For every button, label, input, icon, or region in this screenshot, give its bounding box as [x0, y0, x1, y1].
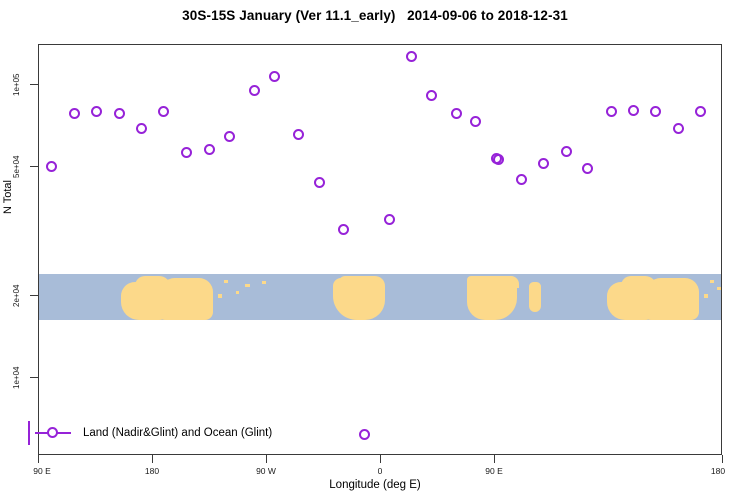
y-tick-label-1e05: 1e+05 [12, 68, 21, 102]
data-point[interactable] [673, 123, 684, 134]
x-tick-label-90w: 90 W [256, 466, 276, 476]
legend-accent-bar [28, 421, 30, 445]
x-tick-mark-0 [380, 455, 381, 463]
legend-marker-sample [33, 426, 73, 440]
x-tick-label-180-west: 180 [145, 466, 159, 476]
landmass-island-c [236, 291, 239, 294]
landmass-island-e [218, 294, 222, 298]
data-point[interactable] [293, 129, 304, 140]
y-tick-mark-1e04 [30, 377, 38, 378]
y-tick-mark-1e05 [30, 84, 38, 85]
data-point[interactable] [695, 106, 706, 117]
landmass-island-e-wrap [704, 294, 708, 298]
landmass-island-f-wrap [717, 287, 721, 290]
legend-circle-icon [47, 427, 58, 438]
data-point[interactable] [426, 90, 437, 101]
y-tick-label-1e04: 1e+04 [12, 361, 21, 395]
legend: Land (Nadir&Glint) and Ocean (Glint) [28, 420, 272, 446]
data-point[interactable] [314, 177, 325, 188]
data-point[interactable] [224, 131, 235, 142]
land-ocean-reference-band [39, 274, 722, 320]
y-axis-title: N Total [2, 180, 14, 214]
x-tick-label-90e-west: 90 E [33, 466, 51, 476]
data-point[interactable] [406, 51, 417, 62]
y-tick-label-2e04: 2e+04 [12, 279, 21, 313]
data-point[interactable] [136, 123, 147, 134]
data-point[interactable] [538, 158, 549, 169]
data-point[interactable] [628, 105, 639, 116]
landmass-madagascar [529, 282, 541, 312]
landmass-africa-north [467, 276, 519, 288]
plot-area [38, 44, 722, 455]
data-point[interactable] [561, 146, 572, 157]
data-point[interactable] [493, 154, 504, 165]
legend-entry-label: Land (Nadir&Glint) and Ocean (Glint) [83, 427, 272, 439]
data-point[interactable] [384, 214, 395, 225]
data-point[interactable] [338, 224, 349, 235]
data-point[interactable] [114, 108, 125, 119]
y-tick-label-5e04: 5e+04 [12, 150, 21, 184]
data-point[interactable] [516, 174, 527, 185]
data-point[interactable] [269, 71, 280, 82]
x-tick-mark-90e-west [38, 455, 39, 463]
data-point[interactable] [249, 85, 260, 96]
data-point[interactable] [91, 106, 102, 117]
x-tick-mark-90w [266, 455, 267, 463]
data-point[interactable] [582, 163, 593, 174]
x-tick-label-180-east: 180 [711, 466, 725, 476]
data-point[interactable] [606, 106, 617, 117]
data-point[interactable] [46, 161, 57, 172]
x-tick-mark-180-east [722, 455, 723, 463]
landmass-island-b [245, 284, 250, 287]
y-tick-mark-2e04 [30, 295, 38, 296]
x-axis-title: Longitude (deg E) [0, 479, 750, 491]
scatter-plot-figure: 30S-15S January (Ver 11.1_early) 2014-09… [0, 0, 750, 500]
y-tick-mark-5e04 [30, 166, 38, 167]
page-title: 30S-15S January (Ver 11.1_early) 2014-09… [0, 8, 750, 23]
landmass-australia-north [135, 276, 171, 292]
landmass-south-america-north [339, 276, 385, 290]
landmass-australia-north-wrap [621, 276, 657, 292]
data-point[interactable] [69, 108, 80, 119]
data-point-outlier[interactable] [359, 429, 370, 440]
x-tick-label-0: 0 [378, 466, 383, 476]
data-point[interactable] [181, 147, 192, 158]
x-tick-mark-90e-east [494, 455, 495, 463]
data-point[interactable] [451, 108, 462, 119]
data-point[interactable] [158, 106, 169, 117]
landmass-island-a [224, 280, 228, 283]
x-tick-mark-180-west [152, 455, 153, 463]
data-point[interactable] [470, 116, 481, 127]
data-point[interactable] [204, 144, 215, 155]
landmass-island-d [262, 281, 266, 284]
x-tick-label-90e-east: 90 E [485, 466, 503, 476]
landmass-island-a-wrap [710, 280, 714, 283]
data-point[interactable] [650, 106, 661, 117]
